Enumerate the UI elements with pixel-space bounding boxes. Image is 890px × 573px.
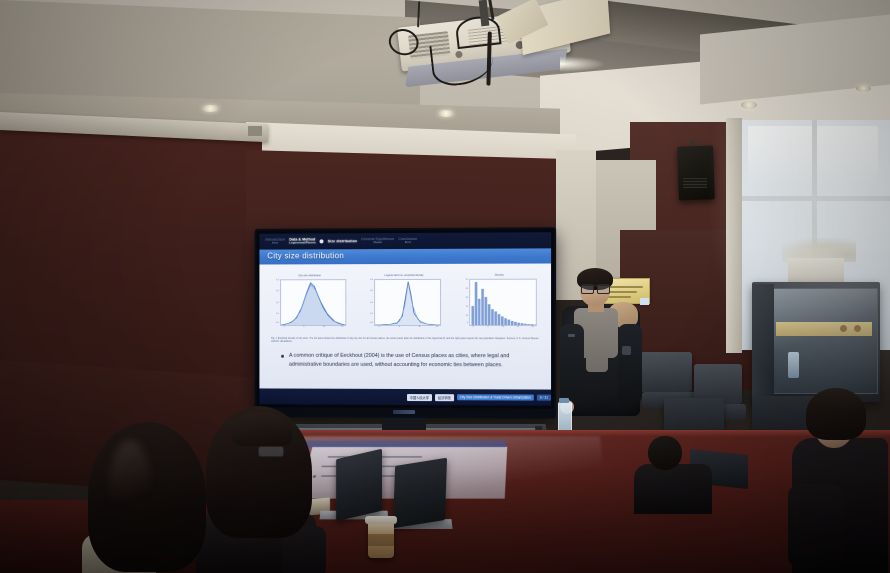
- x-tick: 20: [532, 326, 534, 328]
- coffee-cup-sleeve: [368, 534, 394, 546]
- projector-lens-glow: [560, 56, 606, 72]
- chart-plot-area: [469, 279, 537, 326]
- cabinet-side-panel: [752, 284, 774, 400]
- y-tick: 0.1: [276, 313, 279, 315]
- x-tick: 5: [399, 326, 400, 328]
- chart-title: Lognormal fit vs. empirical density: [365, 274, 443, 277]
- x-tick: 10: [323, 326, 325, 328]
- audience-member-back-right: [634, 436, 714, 506]
- chart-plot-area: [374, 279, 441, 326]
- cabinet-shelf-dot-icon: [854, 325, 861, 332]
- parka-pocket-tag-icon: [622, 346, 631, 355]
- chart-x-axis: 0 5 10 15 20: [469, 326, 537, 334]
- y-tick: 0.0: [370, 322, 373, 324]
- footer-institution: 中国人民大学: [407, 394, 432, 401]
- chart-x-axis: 0 5 10 15: [374, 326, 441, 334]
- x-tick: 15: [517, 326, 519, 328]
- ceiling-downlight-icon: [438, 110, 454, 117]
- y-tick: 0.6: [370, 290, 373, 292]
- nav-sublabel: End: [398, 241, 417, 245]
- audience-hair-front: [232, 412, 292, 446]
- slide-nav-item-conclusion: Conclusion End: [398, 237, 417, 245]
- window-mullion-horizontal: [740, 196, 890, 201]
- x-tick: 10: [418, 326, 420, 328]
- x-tick: 5: [303, 326, 304, 328]
- presentation-slide: Introduction Intro Data & Method Lognorm…: [259, 232, 551, 405]
- slide-title: City size distribution: [267, 251, 344, 260]
- density-curve: [281, 280, 345, 325]
- audience-body: [634, 464, 712, 514]
- chart-population-histogram: Density 50 40 30 20 10 0: [460, 274, 539, 334]
- slide-nav-progress-dot-icon: [320, 239, 324, 243]
- laptop-screen[interactable]: [336, 449, 382, 522]
- density-curve: [375, 280, 440, 325]
- figure-caption: Fig. 1 Empirical density of city sizes. …: [271, 338, 539, 345]
- chart-y-axis: 50 40 30 20 10 0: [460, 279, 469, 326]
- plant-pot: [788, 258, 844, 284]
- audience-hair: [806, 388, 866, 440]
- presenter: [556, 272, 646, 432]
- audience-hair-highlight: [110, 440, 150, 524]
- slide-nav-item-general-equilibrium: General Equilibrium Model: [361, 237, 394, 245]
- slide-footer-bar: 中国人民大学 经济学院 City Size Distribution & Tra…: [259, 388, 551, 405]
- slide-nav-item-data-method: Data & Method Lognormal/Pareto: [289, 237, 316, 245]
- x-tick: 0: [283, 326, 284, 328]
- y-tick: 0.4: [370, 302, 373, 304]
- x-tick: 15: [341, 326, 343, 328]
- y-tick: 50: [466, 279, 468, 281]
- nav-label: Size distribution: [328, 239, 357, 243]
- speaker-grille-icon: [683, 178, 707, 188]
- bullet-dot-icon: [281, 355, 284, 358]
- chart-plot-area: [280, 279, 346, 326]
- window-post: [726, 118, 742, 353]
- x-tick: 0: [473, 326, 474, 328]
- slide-nav-item-size-distribution: Size distribution: [328, 239, 357, 244]
- wall-speaker: [677, 145, 715, 200]
- chart-title: Density: [460, 274, 539, 277]
- cabinet-glass-door[interactable]: [772, 288, 878, 394]
- ceiling-downlight-icon: [856, 85, 871, 92]
- projection-screen-roller-end-cap: [248, 126, 262, 136]
- bullet-text: A common critique of Eeckhout (2004) is …: [289, 352, 531, 370]
- parka-open-front: [586, 310, 608, 372]
- coffee-cup-lid: [365, 516, 397, 524]
- laptop-screen[interactable]: [393, 458, 447, 529]
- y-tick: 0.0: [276, 322, 279, 324]
- ceiling-downlight-icon: [741, 101, 757, 109]
- glasses-bridge-icon: [581, 285, 609, 293]
- y-tick: 0.2: [276, 302, 279, 304]
- y-tick: 0.4: [276, 279, 279, 281]
- nav-sublabel: Intro: [265, 242, 285, 246]
- ceiling-downlight-icon: [202, 105, 219, 112]
- chart-title: City size distribution: [271, 274, 348, 277]
- slide-body: City size distribution 0.4 0.3 0.2 0.1 0…: [259, 263, 551, 389]
- y-tick: 0: [467, 322, 468, 324]
- wall-display-tv[interactable]: Introduction Intro Data & Method Lognorm…: [255, 227, 557, 419]
- nav-sublabel: Model: [361, 241, 394, 245]
- y-tick: 40: [466, 288, 468, 290]
- chart-city-size-distribution: City size distribution 0.4 0.3 0.2 0.1 0…: [271, 274, 348, 334]
- audience-member-right: [792, 388, 890, 573]
- nav-sublabel: Lognormal/Pareto: [289, 242, 316, 246]
- parka-logo-icon: [568, 334, 575, 337]
- chart-y-axis: 0.4 0.3 0.2 0.1 0.0: [271, 279, 280, 326]
- y-tick: 0.3: [276, 291, 279, 293]
- chart-y-axis: 0.8 0.6 0.4 0.2 0.0: [365, 279, 374, 326]
- audience-arm: [788, 484, 844, 568]
- presenter-arm-right: [618, 324, 642, 404]
- audience-member-left: [88, 422, 208, 573]
- chair-backrest: [640, 352, 692, 392]
- x-tick: 15: [436, 326, 438, 328]
- histogram-bars: [470, 280, 536, 325]
- audience-member-center-left: [196, 406, 318, 573]
- display-brand-logo: [393, 410, 415, 414]
- audience-head: [648, 436, 682, 470]
- glasses-lens-icon: [258, 446, 284, 457]
- slide-nav-bar: Introduction Intro Data & Method Lognorm…: [259, 232, 551, 249]
- x-tick: 10: [502, 326, 504, 328]
- slide-bullet: A common critique of Eeckhout (2004) is …: [281, 352, 531, 370]
- reflection-title-bar: [305, 441, 506, 447]
- y-tick: 20: [466, 306, 468, 308]
- chart-lognormal-fit: Lognormal fit vs. empirical density 0.8 …: [365, 274, 443, 334]
- chart-x-axis: 0 5 10 15: [280, 326, 346, 334]
- slide-nav-item-introduction: Introduction Intro: [265, 237, 285, 245]
- cabinet-shelf-dot-icon: [840, 325, 847, 332]
- y-tick: 10: [466, 315, 468, 317]
- y-tick: 0.8: [370, 279, 373, 281]
- footer-department: 经济学院: [435, 394, 454, 401]
- bottle-in-cabinet: [788, 352, 799, 378]
- water-bottle-cap: [559, 398, 569, 403]
- y-tick: 0.2: [370, 313, 373, 315]
- slide-figure-row: City size distribution 0.4 0.3 0.2 0.1 0…: [271, 272, 539, 334]
- x-tick: 5: [487, 326, 488, 328]
- footer-page-number: 8 / 31: [537, 395, 551, 401]
- y-tick: 30: [466, 297, 468, 299]
- conference-room-photo: Introduction Intro Data & Method Lognorm…: [0, 0, 890, 573]
- footer-presentation-title: City Size Distribution & Trade Driven Ur…: [457, 394, 534, 400]
- x-tick: 0: [379, 326, 380, 328]
